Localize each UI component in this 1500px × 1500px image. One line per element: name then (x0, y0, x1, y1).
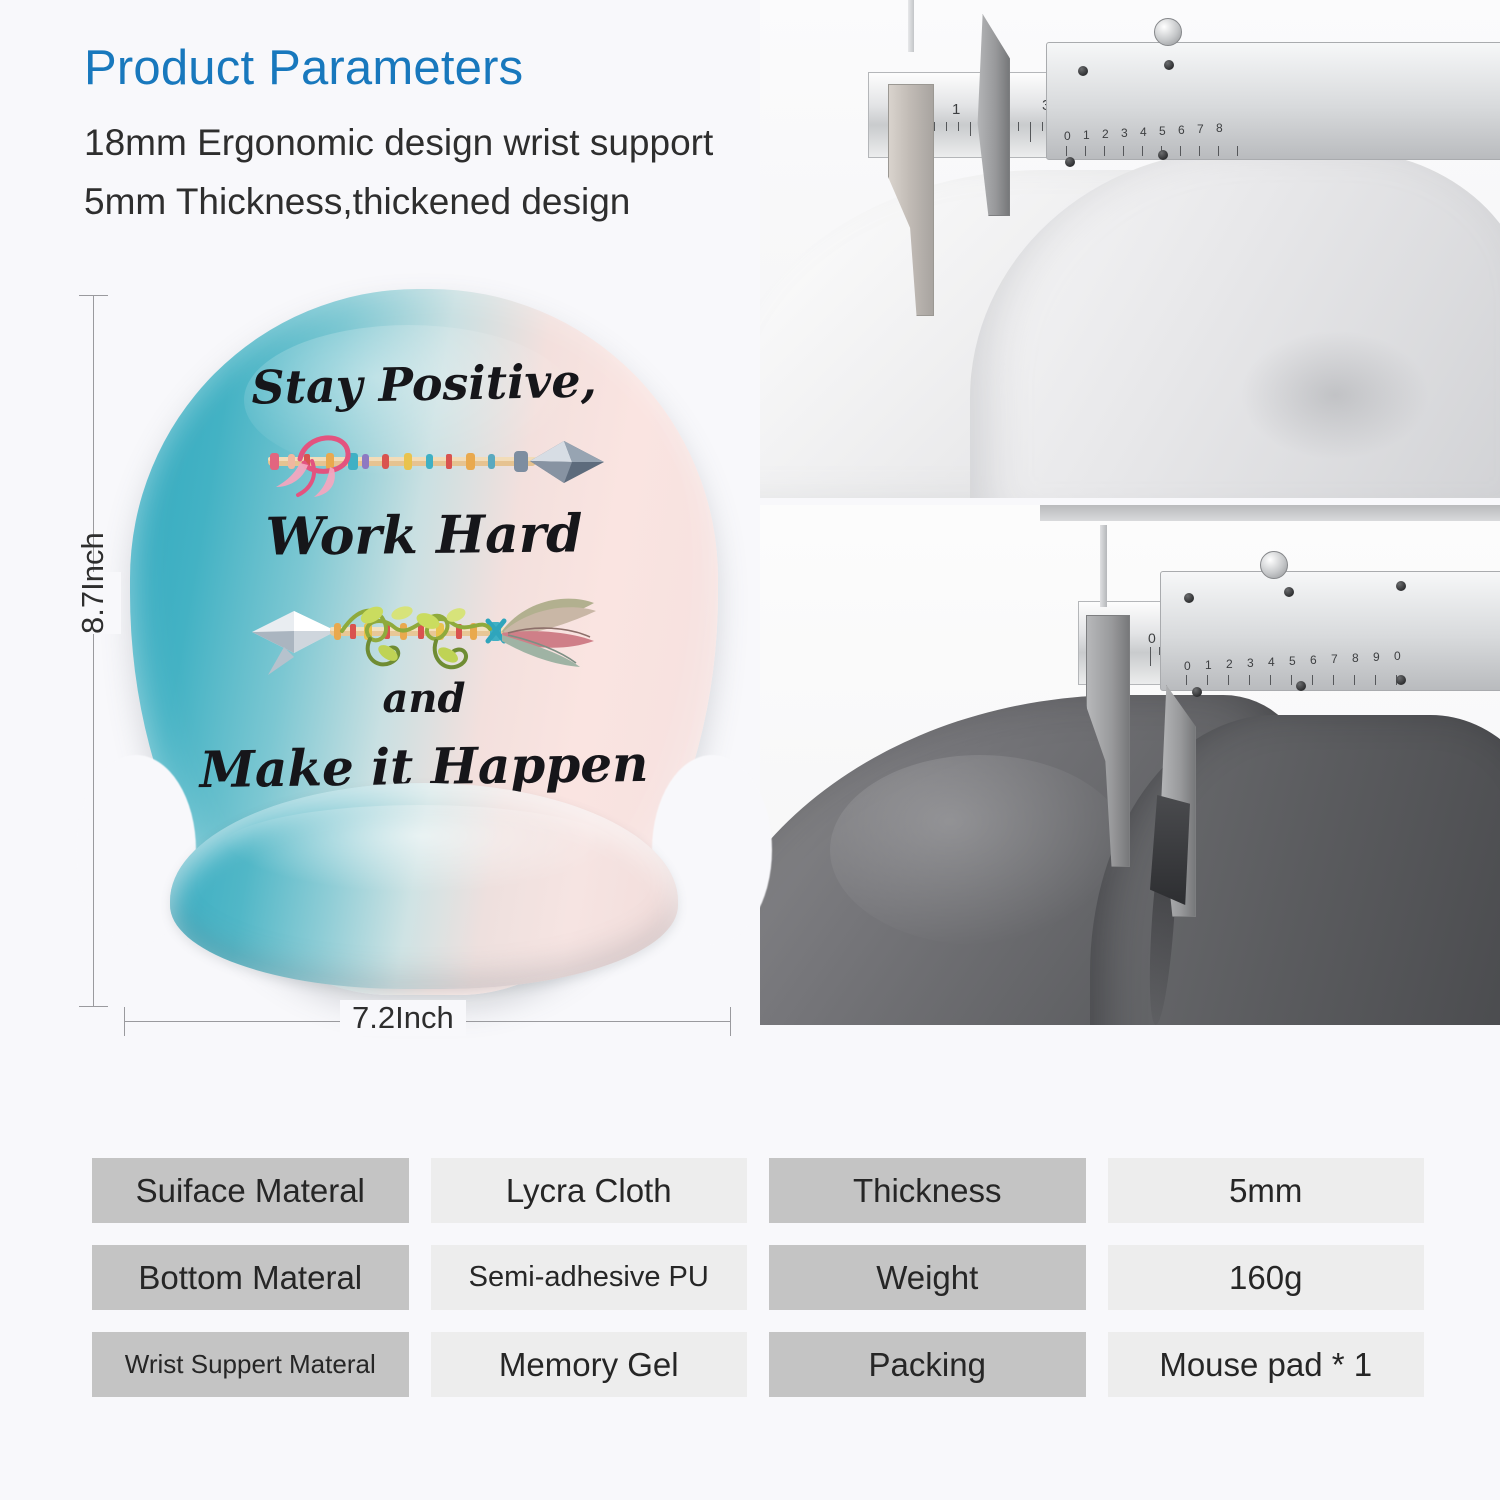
spec-value-packing: Mouse pad * 1 (1108, 1332, 1425, 1397)
quote-line-3: and (124, 675, 724, 722)
scale-number: 1 (952, 102, 960, 117)
arrow-decor-feathers (250, 591, 606, 683)
spec-value-weight: 160g (1108, 1245, 1425, 1310)
top-edge-strip (1040, 505, 1500, 521)
vernier-number: 2 (1102, 128, 1109, 140)
spec-value-wrist-support-material: Memory Gel (431, 1332, 748, 1397)
spec-key-bottom-material: Bottom Materal (92, 1245, 409, 1310)
vernier-number: 8 (1352, 652, 1359, 664)
table-row: Wrist Suppert Materal Memory Gel Packing… (92, 1332, 1424, 1397)
width-dimension-cap-left (124, 1007, 125, 1036)
vernier-number: 2 (1226, 658, 1233, 670)
vernier-number: 5 (1159, 125, 1166, 137)
vernier-number: 1 (1205, 659, 1212, 671)
width-dimension-cap-right (730, 1007, 731, 1036)
caliper-pin (1078, 66, 1088, 76)
caliper-pin (1192, 687, 1202, 697)
vernier-number: 6 (1310, 654, 1317, 666)
caliper-pin (1396, 581, 1406, 591)
caliper-pin (1158, 150, 1168, 160)
caliper-pin (1284, 587, 1294, 597)
spec-value-bottom-material: Semi-adhesive PU (431, 1245, 748, 1310)
caliper-thumb-screw (1154, 18, 1182, 46)
vernier-number: 5 (1289, 655, 1296, 667)
feature-line-thickness: 5mm Thickness,thickened design (84, 181, 630, 223)
specification-table: Suiface Materal Lycra Cloth Thickness 5m… (92, 1158, 1424, 1419)
caliper-pin (1396, 675, 1406, 685)
spec-value-surface-material: Lycra Cloth (431, 1158, 748, 1223)
feature-line-ergonomic: 18mm Ergonomic design wrist support (84, 122, 713, 164)
vernier-number: 9 (1373, 651, 1380, 663)
width-dimension-label: 7.2Inch (340, 1000, 466, 1036)
vernier-number: 0 (1184, 660, 1191, 672)
vernier-number: 7 (1197, 123, 1204, 135)
arrow-decor-ribbon (242, 425, 606, 499)
vernier-number: 0 (1394, 650, 1401, 662)
vernier-number: 0 (1064, 130, 1071, 142)
height-dimension-cap-top (79, 295, 108, 296)
spec-value-thickness: 5mm (1108, 1158, 1425, 1223)
photo-caliper-bottom: 0 1 2 3 4 5 6 7 0 (760, 505, 1500, 1025)
product-parameters-page: Product Parameters 18mm Ergonomic design… (0, 0, 1500, 1500)
spec-key-wrist-support-material: Wrist Suppert Materal (92, 1332, 409, 1397)
caliper-depth-rod (908, 0, 914, 52)
caliper-pin (1184, 593, 1194, 603)
photo-top-scene: 0 1 2 3 4 5 6 0 1 2 3 (760, 0, 1500, 498)
caliper-depth-rod (1100, 525, 1107, 607)
vernier-number: 6 (1178, 124, 1185, 136)
caliper-vernier-scale (1186, 675, 1426, 687)
page-title: Product Parameters (84, 40, 523, 96)
table-row: Suiface Materal Lycra Cloth Thickness 5m… (92, 1158, 1424, 1223)
photo-bottom-scene: 0 1 2 3 4 5 6 7 0 (760, 505, 1500, 1025)
height-dimension-line (93, 295, 94, 1007)
spec-key-packing: Packing (769, 1332, 1086, 1397)
vernier-number: 4 (1268, 656, 1275, 668)
vernier-number: 4 (1140, 126, 1147, 138)
caliper-vernier-slider (1046, 42, 1500, 160)
vernier-number: 7 (1331, 653, 1338, 665)
height-dimension-label: 8.7Inch (65, 572, 121, 634)
spec-key-thickness: Thickness (769, 1158, 1086, 1223)
vernier-number: 3 (1121, 127, 1128, 139)
vernier-number: 3 (1247, 657, 1254, 669)
spec-key-surface-material: Suiface Materal (92, 1158, 409, 1223)
height-dimension-cap-bottom (79, 1006, 108, 1007)
table-row: Bottom Materal Semi-adhesive PU Weight 1… (92, 1245, 1424, 1310)
caliper-vernier-slider (1160, 571, 1500, 691)
caliper-pin (1296, 681, 1306, 691)
photo-caliper-surface: 0 1 2 3 4 5 6 0 1 2 3 (760, 0, 1500, 498)
vernier-number: 1 (1083, 129, 1090, 141)
spec-key-weight: Weight (769, 1245, 1086, 1310)
caliper-pin (1065, 157, 1075, 167)
scale-number: 0 (1148, 631, 1156, 645)
caliper-vernier-scale (1066, 146, 1296, 158)
fabric-shadow-blob (1240, 330, 1430, 460)
vernier-number: 8 (1216, 122, 1223, 134)
caliper-thumb-screw (1260, 551, 1288, 579)
caliper-pin (1164, 60, 1174, 70)
quote-line-2: Work Hard (124, 502, 725, 569)
mouse-pad-illustration: Stay Positive, (124, 285, 724, 1005)
caliper-jaw-tip (1150, 795, 1190, 905)
pu-base-highlight (830, 755, 1130, 945)
